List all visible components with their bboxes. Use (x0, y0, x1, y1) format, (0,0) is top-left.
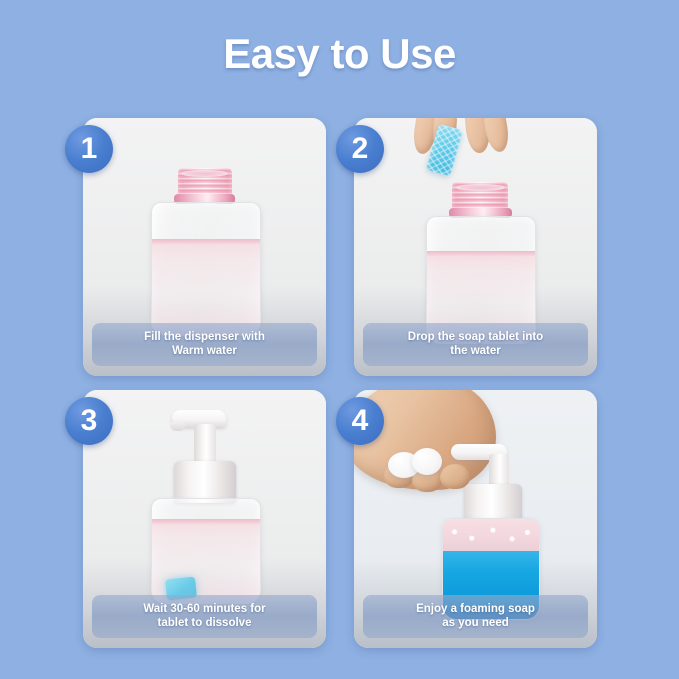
liquid-surface-line (152, 519, 260, 525)
bottle-body (151, 498, 261, 604)
pump-collar (174, 461, 236, 503)
dispenser-bottle-2 (426, 182, 534, 342)
dispenser-bottle-4 (442, 442, 538, 618)
foam-layer (443, 519, 539, 551)
pump-nozzle (170, 422, 185, 431)
step-4-caption-line-2: as you need (369, 616, 582, 630)
step-card-4[interactable]: Enjoy a foaming soap as you need (354, 390, 597, 648)
bottle-neck (178, 168, 232, 202)
finger (483, 118, 512, 154)
step-badge-1: 1 (65, 125, 113, 173)
step-1-caption: Fill the dispenser with Warm water (92, 323, 317, 366)
step-4-caption-line-1: Enjoy a foaming soap (369, 602, 582, 616)
page-title: Easy to Use (0, 30, 679, 78)
liquid-surface-line (427, 251, 535, 257)
dispenser-bottle-3 (151, 406, 259, 602)
step-badge-3: 3 (65, 397, 113, 445)
step-2-caption: Drop the soap tablet into the water (363, 323, 588, 366)
step-card-1[interactable]: Fill the dispenser with Warm water (83, 118, 326, 376)
step-1-caption-line-2: Warm water (98, 344, 311, 358)
liquid-surface-line (152, 239, 260, 245)
bottle-neck-rim (456, 184, 505, 191)
step-grid: Fill the dispenser with Warm water (83, 118, 597, 648)
foaming-pump-head[interactable] (160, 406, 250, 502)
pump-stem (489, 454, 509, 488)
step-card-3[interactable]: Wait 30-60 minutes for tablet to dissolv… (83, 390, 326, 648)
step-2-caption-line-2: the water (369, 344, 582, 358)
step-card-2[interactable]: Drop the soap tablet into the water (354, 118, 597, 376)
pump-stem (194, 424, 216, 464)
bottle-body (151, 202, 261, 336)
step-badge-4: 4 (336, 397, 384, 445)
step-3-caption-line-2: tablet to dissolve (98, 616, 311, 630)
bottle-neck-rim (181, 170, 229, 177)
step-3-caption: Wait 30-60 minutes for tablet to dissolv… (92, 595, 317, 638)
step-4-caption: Enjoy a foaming soap as you need (363, 595, 588, 638)
step-badge-2: 2 (336, 125, 384, 173)
dispenser-bottle-1 (151, 168, 259, 334)
dispensed-foam (412, 448, 442, 475)
bottle-neck (452, 182, 508, 216)
infographic-root: Easy to Use Fill (0, 0, 679, 679)
step-3-caption-line-1: Wait 30-60 minutes for (98, 602, 311, 616)
step-2-caption-line-1: Drop the soap tablet into (369, 330, 582, 344)
foaming-pump-head[interactable] (445, 442, 535, 524)
bottle-liquid-water (152, 239, 260, 335)
step-1-caption-line-1: Fill the dispenser with (98, 330, 311, 344)
